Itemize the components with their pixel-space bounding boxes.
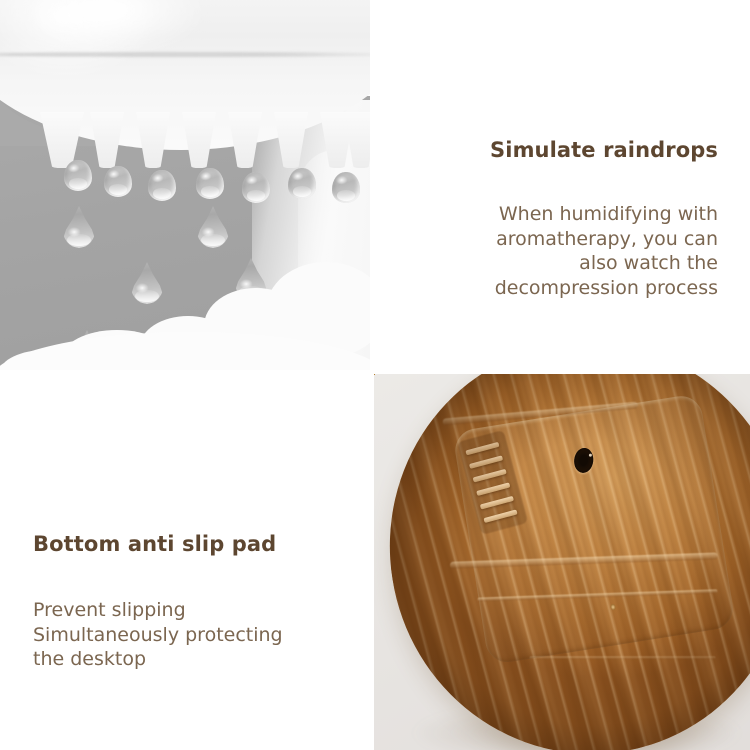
vent-slot — [480, 496, 514, 510]
panel-ridge — [450, 552, 718, 568]
hanging-droplet — [332, 172, 360, 203]
anti-slip-pad-body: Prevent slipping Simultaneously protecti… — [33, 598, 283, 672]
body-line: Simultaneously protecting — [33, 623, 283, 648]
panel-ridge — [442, 402, 638, 426]
hanging-droplet — [242, 172, 270, 203]
wood-base-disc — [372, 372, 750, 750]
vent-slot — [473, 469, 507, 483]
hanging-droplet — [64, 160, 92, 191]
vent-slot — [476, 482, 510, 496]
hanging-droplet — [148, 170, 176, 201]
bowl-highlight — [18, 0, 208, 56]
body-line: also watch the — [495, 251, 718, 276]
anti-slip-pad-text-panel: Bottom anti slip pad Prevent slipping Si… — [0, 372, 372, 750]
vent-slot — [465, 442, 499, 456]
panel-ridge — [478, 589, 718, 601]
simulate-raindrops-body: When humidifying with aromatherapy, you … — [495, 202, 718, 301]
body-line: When humidifying with — [495, 202, 718, 227]
drip-tooth — [136, 112, 170, 168]
drip-tooth — [228, 112, 262, 168]
simulate-raindrops-heading: Simulate raindrops — [490, 138, 718, 162]
vent-slot — [483, 509, 517, 523]
drip-tooth — [274, 112, 308, 168]
wood-base-photo — [372, 372, 750, 750]
screw-dot — [610, 604, 616, 611]
drain-hole — [573, 447, 595, 474]
body-line: the desktop — [33, 647, 283, 672]
raindrop-photo-panel — [0, 0, 372, 372]
body-line: aromatherapy, you can — [495, 227, 718, 252]
vent-slot-group — [465, 440, 523, 524]
panel-divider-horizontal — [0, 370, 750, 374]
vent-slot — [469, 455, 503, 469]
drip-tooth — [90, 112, 124, 168]
body-line: Prevent slipping — [33, 598, 283, 623]
hanging-droplet — [288, 168, 316, 199]
hanging-droplet — [196, 168, 224, 199]
raindrop-photo — [0, 0, 372, 372]
simulate-raindrops-text-panel: Simulate raindrops When humidifying with… — [372, 0, 750, 372]
recessed-panel — [452, 393, 736, 665]
panel-divider-vertical — [370, 0, 374, 750]
wood-base-photo-panel — [372, 372, 750, 750]
body-line: decompression process — [495, 276, 718, 301]
bowl-seam-line — [0, 52, 372, 57]
drip-tooth — [182, 112, 216, 168]
vent-recess — [457, 430, 528, 535]
hanging-droplet — [104, 166, 132, 197]
panel-ridge — [530, 656, 716, 659]
product-feature-sheet: Simulate raindrops When humidifying with… — [0, 0, 750, 750]
anti-slip-pad-heading: Bottom anti slip pad — [33, 532, 276, 556]
